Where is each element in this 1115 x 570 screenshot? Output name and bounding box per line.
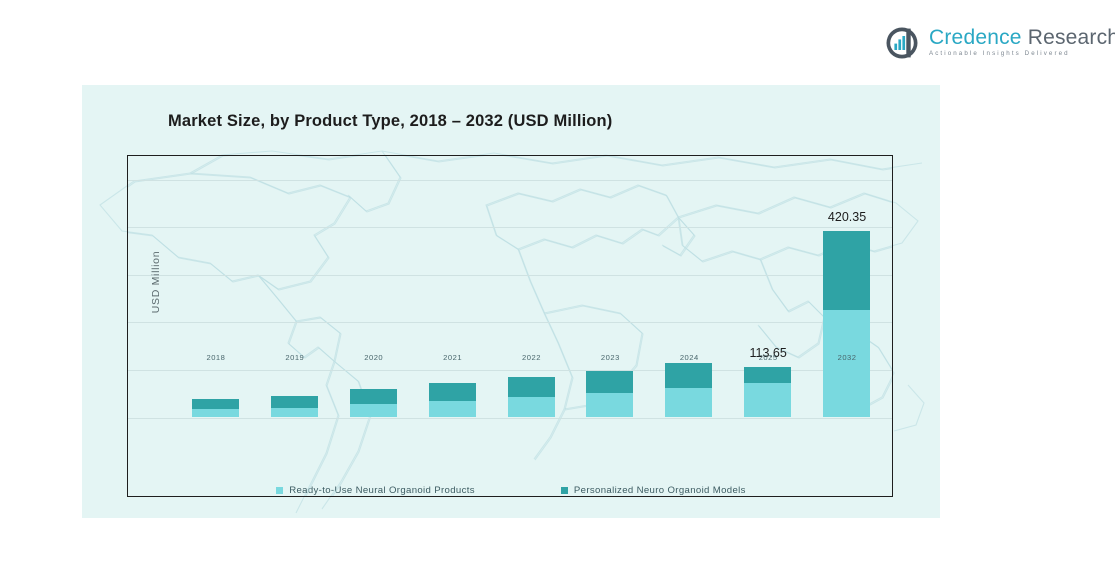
bar-segment-personalized-2032[interactable] [823, 231, 870, 310]
bar-segment-ready-to-use-2025[interactable] [744, 383, 791, 417]
chart-title: Market Size, by Product Type, 2018 – 203… [168, 112, 612, 131]
bar-2020[interactable]: 2020 [350, 389, 397, 417]
bar-2018[interactable]: 2018 [192, 399, 239, 417]
bar-segment-personalized-2018[interactable] [192, 399, 239, 409]
bar-2021[interactable]: 2021 [429, 383, 476, 417]
brand-logo-text: Credence Research Actionable Insights De… [929, 27, 1115, 57]
brand-name-secondary: Research [1028, 26, 1115, 49]
x-axis-tick-2032: 2032 [792, 353, 892, 362]
bar-segment-ready-to-use-2018[interactable] [192, 409, 239, 417]
bar-2019[interactable]: 2019 [271, 396, 318, 417]
brand-name-primary: Credence [929, 26, 1022, 49]
bar-segment-ready-to-use-2022[interactable] [508, 397, 555, 417]
brand-logo: Credence Research Actionable Insights De… [884, 20, 1089, 65]
bar-segment-ready-to-use-2024[interactable] [665, 388, 712, 417]
plot-area: USD Million 2018201920202021202220232024… [127, 155, 893, 497]
bar-2023[interactable]: 2023 [586, 371, 633, 417]
bar-2022[interactable]: 2022 [508, 377, 555, 417]
bar-segment-personalized-2023[interactable] [586, 371, 633, 393]
bar-segment-personalized-2020[interactable] [350, 389, 397, 404]
y-axis-label: USD Million [150, 222, 162, 342]
bar-segment-ready-to-use-2019[interactable] [271, 408, 318, 417]
bar-segment-personalized-2025[interactable] [744, 367, 791, 383]
bar-segment-personalized-2019[interactable] [271, 396, 318, 408]
bar-2032[interactable]: 420.352032 [823, 231, 870, 417]
bar-segment-ready-to-use-2021[interactable] [429, 401, 476, 417]
bar-segment-ready-to-use-2020[interactable] [350, 404, 397, 417]
brand-name: Credence Research [929, 27, 1115, 48]
bar-2025[interactable]: 113.652025 [744, 367, 791, 417]
bar-value-label-2032: 420.35 [792, 210, 892, 224]
bar-segment-personalized-2021[interactable] [429, 383, 476, 401]
bar-2024[interactable]: 2024 [665, 363, 712, 417]
bar-segment-ready-to-use-2032[interactable] [823, 310, 870, 417]
bar-segment-personalized-2022[interactable] [508, 377, 555, 397]
bar-segment-ready-to-use-2023[interactable] [586, 393, 633, 417]
bar-segment-personalized-2024[interactable] [665, 363, 712, 388]
brand-tagline: Actionable Insights Delivered [929, 51, 1115, 57]
bar-chart-circle-logo-icon [884, 25, 920, 61]
bar-group: 2018201920202021202220232024113.65202542… [176, 156, 884, 496]
